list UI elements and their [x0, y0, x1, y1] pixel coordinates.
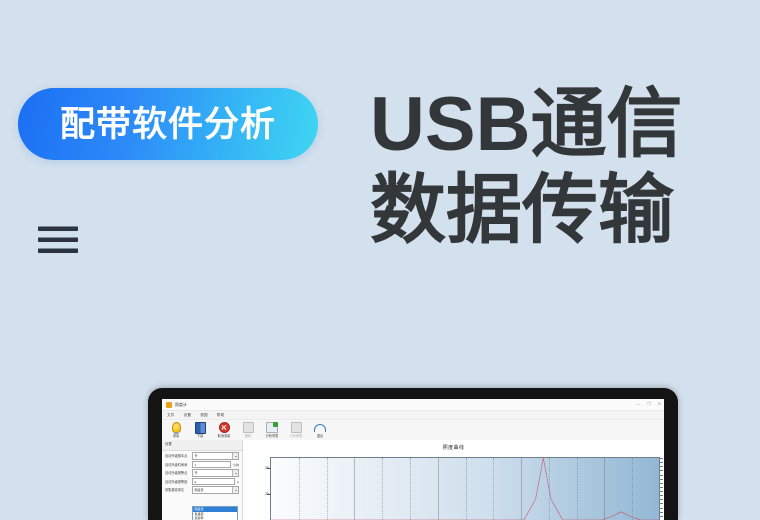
badge-label: 配带软件分析: [60, 107, 276, 142]
chart-right-tick: [660, 503, 663, 504]
chart-right-tick: [660, 508, 663, 509]
chevron-down-icon[interactable]: [232, 487, 238, 493]
setting-label: 自动升级时间间: [165, 463, 192, 467]
setting-label: 自动升级报警值: [165, 480, 192, 484]
chart-right-tick: [660, 470, 663, 471]
menu-item-file[interactable]: 文件: [167, 413, 175, 417]
close-button[interactable]: ✕: [658, 401, 661, 406]
lightbulb-icon: [170, 422, 182, 433]
toolbar-button-report[interactable]: 分析报表: [286, 422, 306, 438]
chart-right-tick: [660, 483, 663, 484]
toolbar-label: 下载: [197, 434, 203, 438]
setting-value: 开: [193, 454, 198, 458]
window-titlebar: 照度计 — ❐ ✕: [162, 399, 664, 411]
chart-gridline: [438, 458, 439, 520]
stop-icon: [218, 422, 230, 433]
chart-right-tick: [660, 491, 663, 492]
toolbar-button-download[interactable]: 下载: [190, 422, 210, 438]
chart-right-tick: [660, 466, 663, 467]
report-icon: [290, 422, 302, 433]
hamburger-bar: [38, 226, 78, 231]
setting-label: 采集基准单位: [165, 488, 192, 492]
setting-select-open[interactable]: 照度值: [192, 486, 239, 494]
window-title: 照度计: [175, 402, 187, 407]
chart-gridline: [466, 458, 467, 520]
chart-gridline: [354, 458, 355, 520]
toolbar-button-delete[interactable]: 删除: [238, 422, 258, 438]
chart-right-tick: [660, 512, 663, 513]
menu-item-help[interactable]: 帮助: [217, 413, 225, 417]
app-window: 照度计 — ❐ ✕ 文件 设置 视图 帮助 测量: [162, 399, 664, 520]
dropdown-option[interactable]: 反射率: [193, 516, 237, 520]
toolbar-label: 测量: [173, 434, 179, 438]
setting-row-alarm-value: 自动升级报警值 0 lx: [165, 479, 239, 485]
dropdown-options-list[interactable]: 照度值 色温值 反射率 亮度 光强: [192, 506, 238, 520]
chart-right-tick: [660, 487, 663, 488]
chart-gridline: [299, 458, 300, 520]
toolbar-button-cancel-measure[interactable]: 取消测量: [214, 422, 234, 438]
setting-input[interactable]: 0: [192, 478, 235, 486]
toolbar-button-measure[interactable]: 测量: [166, 422, 186, 438]
badge-pill: 配带软件分析: [18, 88, 318, 160]
toolbar-label: 取消测量: [218, 434, 231, 438]
chart-gridline: [577, 458, 578, 520]
hero-section: 配带软件分析 USB通信 数据传输: [0, 0, 760, 390]
setting-value: 开: [193, 471, 198, 475]
setting-label: 自动升级基本点: [165, 454, 192, 458]
setting-value: 0: [193, 480, 196, 484]
app-body: 设置 自动升级基本点 开 自动升级时间间 1 分钟: [162, 440, 664, 520]
setting-row-interval: 自动升级时间间 1 分钟: [165, 462, 239, 468]
toolbar-button-export-table[interactable]: 分析同表: [262, 422, 282, 438]
title-line-1: USB通信: [370, 82, 750, 168]
setting-value: 照度值: [193, 488, 204, 492]
chart-y-tick-label: 30: [265, 466, 269, 470]
chart-title: 照度曲线: [243, 440, 664, 451]
chart-right-tick: [660, 462, 663, 463]
setting-select[interactable]: 开: [192, 469, 239, 477]
sidebar-header: 设置: [162, 440, 242, 451]
chart-right-tick: [660, 499, 663, 500]
minimize-button[interactable]: —: [636, 401, 640, 406]
chart-gridline: [632, 458, 633, 520]
chart-gridline: [549, 458, 550, 520]
window-controls: — ❐ ✕: [636, 401, 661, 406]
chart-gridline: [521, 458, 522, 520]
setting-row-alarm-point: 自动升级报警点 开: [165, 470, 239, 476]
menu-item-view[interactable]: 视图: [200, 413, 208, 417]
chart-gridline: [493, 458, 494, 520]
toolbar-label: 分析同表: [266, 434, 279, 438]
maximize-button[interactable]: ❐: [647, 401, 651, 406]
menu-bar: 文件 设置 视图 帮助: [162, 411, 664, 420]
title-line-2: 数据传输: [370, 168, 750, 254]
page-title: USB通信 数据传输: [370, 82, 750, 254]
setting-label: 自动升级报警点: [165, 471, 192, 475]
chart-y-tick-label: 25: [265, 492, 269, 496]
delete-icon: [242, 422, 254, 433]
setting-row-unit: 采集基准单位 照度值: [165, 487, 239, 493]
exit-arc-icon: [314, 422, 326, 433]
hamburger-icon: [38, 226, 78, 252]
toolbar-label: 删除: [245, 434, 251, 438]
toolbar-label: 分析报表: [290, 434, 303, 438]
setting-unit: lx: [237, 480, 239, 484]
chart-panel: 照度曲线 3025: [243, 440, 664, 520]
settings-sidebar: 设置 自动升级基本点 开 自动升级时间间 1 分钟: [162, 440, 243, 520]
chart-gridline: [382, 458, 383, 520]
chart-right-tick: [660, 479, 663, 480]
export-icon: [266, 422, 278, 433]
laptop-mockup: 照度计 — ❐ ✕ 文件 设置 视图 帮助 测量: [148, 388, 678, 520]
chart-plot-area: 3025: [270, 457, 660, 520]
chart-gridline: [410, 458, 411, 520]
setting-row-auto-upgrade-base: 自动升级基本点 开: [165, 453, 239, 459]
chart-right-tick: [660, 495, 663, 496]
setting-unit: 分钟: [233, 463, 239, 467]
app-icon: [166, 402, 172, 408]
toolbar-label: 退出: [317, 434, 323, 438]
chart-right-tick: [660, 516, 663, 517]
setting-input[interactable]: 1: [192, 461, 231, 469]
hamburger-bar: [38, 248, 78, 253]
setting-value: 1: [193, 463, 196, 467]
hamburger-bar: [38, 237, 78, 242]
chart-right-tick: [660, 458, 663, 459]
toolbar-button-exit[interactable]: 退出: [310, 422, 330, 438]
book-icon: [194, 422, 206, 433]
laptop-screen: 照度计 — ❐ ✕ 文件 设置 视图 帮助 测量: [162, 399, 664, 520]
chevron-down-icon[interactable]: [232, 453, 238, 459]
chevron-down-icon[interactable]: [232, 470, 238, 476]
chart-gridline: [327, 458, 328, 520]
chart-gridline: [604, 458, 605, 520]
chart-right-tick: [660, 475, 663, 476]
setting-select[interactable]: 开: [192, 452, 239, 460]
menu-item-settings[interactable]: 设置: [184, 413, 192, 417]
